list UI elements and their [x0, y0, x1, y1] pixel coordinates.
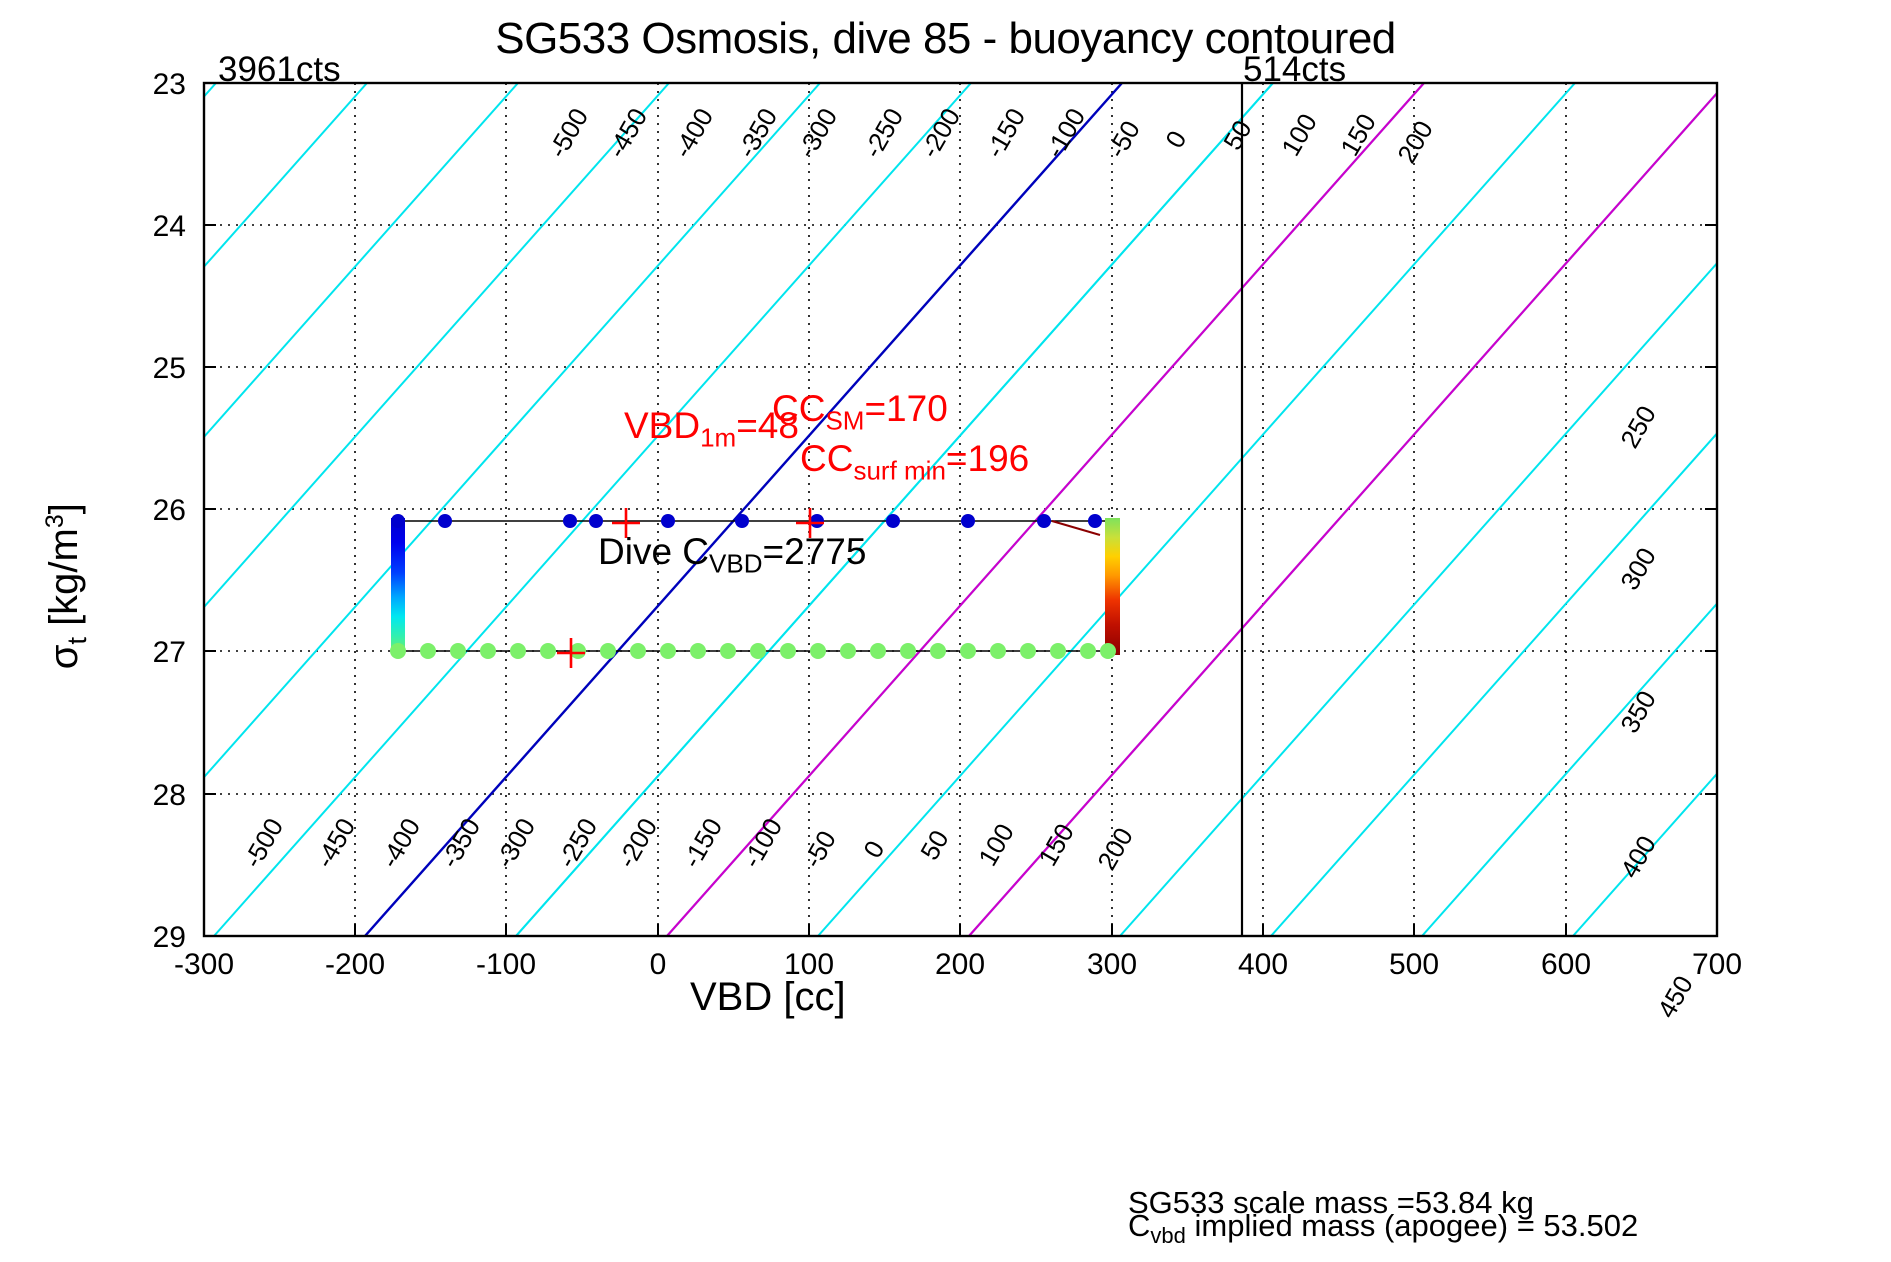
annotation-cc-sm-subscript: SM	[825, 405, 864, 435]
annotation-vbd-1m-prefix: VBD	[624, 405, 700, 446]
annotation-vbd-1m-subscript: 1m	[700, 422, 736, 452]
x-tick-label: 200	[900, 948, 1020, 982]
y-axis-symbol: σ	[42, 645, 86, 670]
y-axis-exponent: 3	[41, 514, 69, 528]
annotation-cc-sm-value: =170	[864, 388, 947, 429]
y-tick-label: 28	[126, 779, 186, 813]
counts-label-right: 514cts	[1243, 50, 1346, 90]
x-axis-label: VBD [cc]	[690, 975, 846, 1020]
x-tick-label: -300	[144, 948, 264, 982]
y-axis-unit: [kg/m	[42, 528, 86, 637]
footer-implied-mass-subscript: vbd	[1150, 1223, 1185, 1248]
x-tick-label: 600	[1506, 948, 1626, 982]
footer-implied-mass-prefix: C	[1128, 1208, 1150, 1243]
x-tick-label: 700	[1657, 948, 1777, 982]
y-tick-label: 25	[126, 352, 186, 386]
y-axis-bracket: ]	[42, 503, 86, 514]
y-axis-label: σt [kg/m3]	[41, 421, 93, 751]
annotation-cc-sm-prefix: CC	[772, 388, 825, 429]
x-tick-label: 500	[1354, 948, 1474, 982]
x-tick-label: 400	[1203, 948, 1323, 982]
annotation-cc-surf-min-prefix: CC	[800, 438, 853, 479]
plot-area-background	[204, 83, 1717, 936]
annotation-dive-cvbd-prefix: Dive C	[598, 531, 709, 572]
y-axis-subscript: t	[62, 637, 92, 645]
y-tick-label: 26	[126, 494, 186, 528]
annotation-cc-surf-min-subscript: surf min	[853, 455, 945, 485]
annotation-dive-cvbd-value: =2775	[763, 531, 867, 572]
y-tick-label: 24	[126, 210, 186, 244]
annotation-cc-sm: CCSM=170	[772, 388, 948, 436]
footer-implied-mass: Cvbd implied mass (apogee) = 53.502	[1128, 1208, 1638, 1249]
y-tick-label: 23	[126, 68, 186, 102]
footer-implied-mass-value: implied mass (apogee) = 53.502	[1186, 1208, 1638, 1243]
descent-limb	[391, 518, 405, 655]
x-tick-label: -200	[295, 948, 415, 982]
counts-label-left: 3961cts	[218, 50, 341, 90]
y-tick-label: 27	[126, 636, 186, 670]
plot-canvas: -500 -450 -400 -350 -300 -250 -200 -150 …	[0, 0, 1891, 1262]
annotation-cc-surf-min-value: =196	[946, 438, 1029, 479]
plot-svg: -500 -450 -400 -350 -300 -250 -200 -150 …	[0, 0, 1891, 1262]
x-tick-label: 300	[1052, 948, 1172, 982]
ascent-limb	[1105, 518, 1120, 655]
annotation-dive-cvbd-subscript: VBD	[709, 548, 762, 578]
x-tick-label: -100	[446, 948, 566, 982]
annotation-cc-surf-min: CCsurf min=196	[800, 438, 1029, 486]
annotation-dive-cvbd: Dive CVBD=2775	[598, 531, 866, 579]
